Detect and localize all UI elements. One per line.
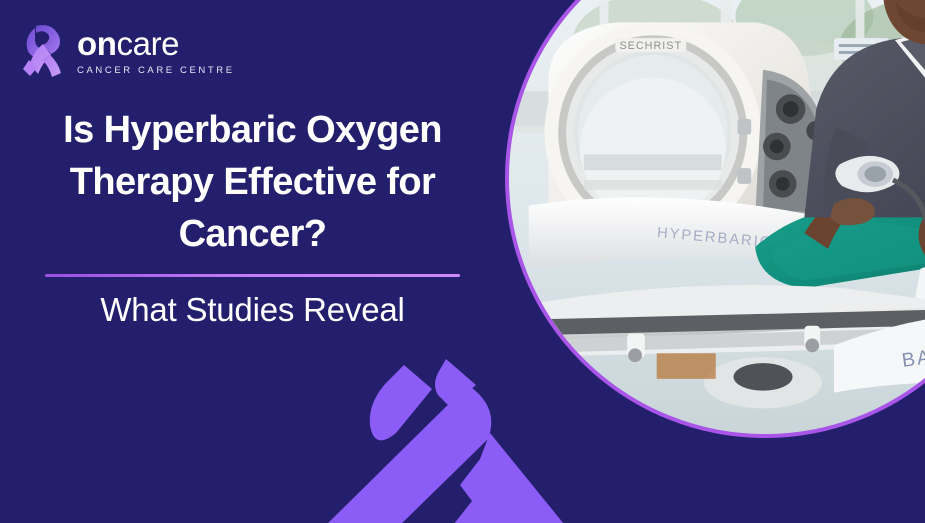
hero-photo-image: SECHRIST HYPERBARIC: [509, 0, 925, 434]
promo-banner: SECHRIST HYPERBARIC: [0, 0, 925, 523]
brand-logo-text: oncare CANCER CARE CENTRE: [77, 27, 235, 76]
svg-text:SECHRIST: SECHRIST: [619, 40, 682, 52]
cancer-ribbon-icon: [21, 24, 67, 78]
brand-wordmark-suffix: care: [117, 25, 180, 62]
headline-divider: [45, 274, 460, 277]
headline-line-3: Cancer?: [45, 208, 460, 260]
headline-block: Is Hyperbaric Oxygen Therapy Effective f…: [45, 104, 460, 331]
brand-wordmark: oncare: [77, 27, 235, 60]
brand-tagline: CANCER CARE CENTRE: [77, 65, 235, 76]
headline-line-1: Is Hyperbaric Oxygen: [45, 104, 460, 156]
headline-line-2: Therapy Effective for: [45, 156, 460, 208]
hero-photo: SECHRIST HYPERBARIC: [505, 0, 925, 438]
ribbon-watermark-icon: [300, 359, 600, 523]
page-title: Is Hyperbaric Oxygen Therapy Effective f…: [45, 104, 460, 260]
subheadline: What Studies Reveal: [45, 289, 460, 331]
brand-wordmark-prefix: on: [77, 25, 117, 62]
brand-logo[interactable]: oncare CANCER CARE CENTRE: [21, 24, 235, 78]
